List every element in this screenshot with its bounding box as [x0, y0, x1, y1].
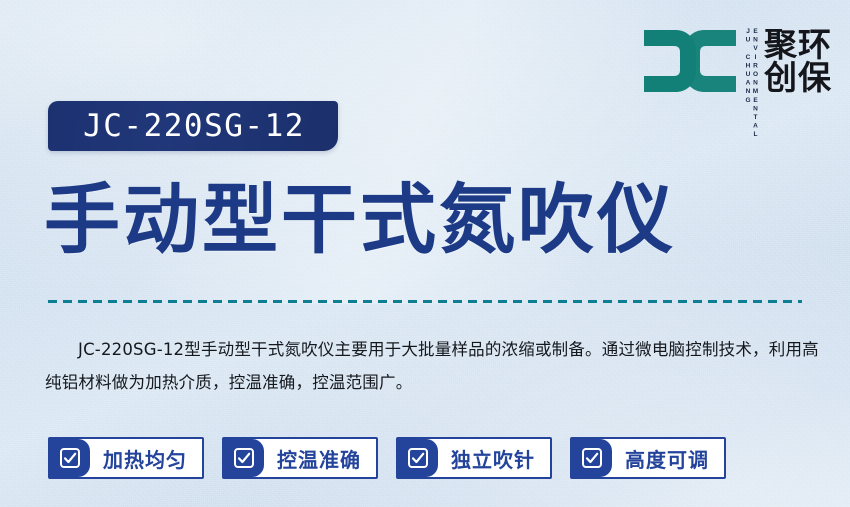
product-banner: JU CHUANG ENVIRONMENTAL 聚环 创保 JC-220SG-1… [0, 0, 850, 507]
logo-pinyin-block: JU CHUANG ENVIRONMENTAL [744, 28, 758, 94]
logo-cn-line-1: 聚环 [764, 28, 832, 61]
feature-badge-list: 加热均匀 控温准确 独立吹针 [48, 437, 726, 479]
feature-badge-3: 独立吹针 [396, 437, 552, 479]
feature-label-2: 控温准确 [264, 439, 376, 477]
feature-badge-2: 控温准确 [222, 437, 378, 479]
feature-label-3: 独立吹针 [438, 439, 550, 477]
feature-label-4: 高度可调 [612, 439, 724, 477]
model-number-text: JC-220SG-12 [83, 108, 305, 144]
feature-badge-1: 加热均匀 [48, 437, 204, 479]
logo-pinyin-line-1: JU CHUANG [744, 28, 751, 94]
checkbox-checked-icon [224, 439, 264, 477]
feature-badge-4: 高度可调 [570, 437, 726, 479]
logo-cn-line-2: 创保 [764, 61, 832, 94]
product-description: JC-220SG-12型手动型干式氮吹仪主要用于大批量样品的浓缩或制备。通过微电… [45, 333, 820, 399]
checkbox-checked-icon [398, 439, 438, 477]
logo-chinese-name: 聚环 创保 [764, 28, 832, 94]
jc-monogram-icon [642, 28, 738, 94]
logo-pinyin-line-2: ENVIRONMENTAL [752, 28, 759, 94]
feature-label-1: 加热均匀 [90, 439, 202, 477]
checkbox-checked-icon [50, 439, 90, 477]
checkbox-checked-icon [572, 439, 612, 477]
brand-logo: JU CHUANG ENVIRONMENTAL 聚环 创保 [642, 28, 832, 94]
dashed-divider [48, 300, 802, 303]
page-title: 手动型干式氮吹仪 [44, 182, 676, 258]
model-number-badge: JC-220SG-12 [48, 101, 338, 151]
